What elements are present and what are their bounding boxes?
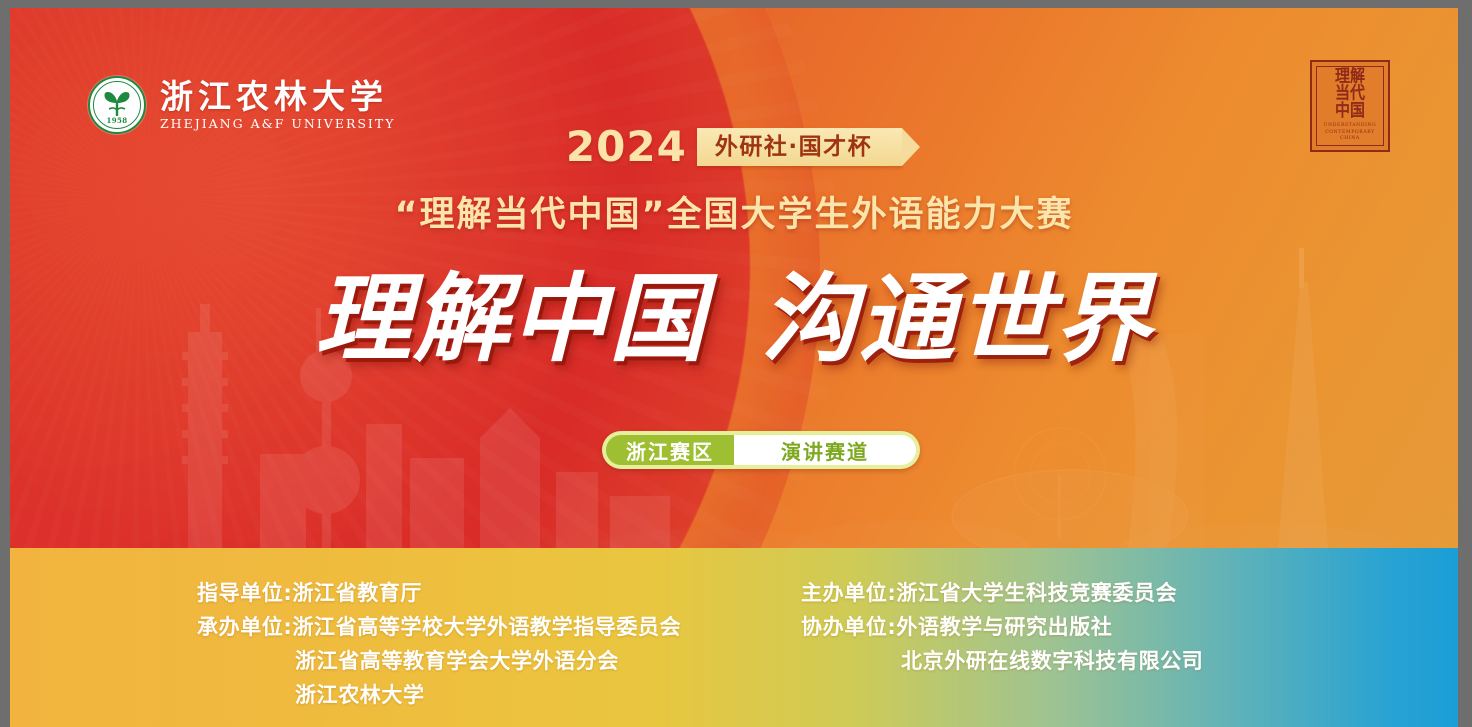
year-ribbon-row: 2024 外研社·国才杯 [10,126,1458,168]
credit-line: 指导单位:浙江省教育厅 [197,576,757,610]
poster-hero: 1958 浙江农林大学 ZHEJIANG A&F UNIVERSITY 理解当代… [10,8,1458,548]
organizers-column-right: 主办单位:浙江省大学生科技竞赛委员会 协办单位:外语教学与研究出版社 北京外研在… [801,576,1271,727]
credit-line: 浙江省高等教育学会大学外语分会 [197,644,757,678]
region-track-pill: 浙江赛区 演讲赛道 [602,431,920,469]
credit-line: 承办单位:浙江省高等学校大学外语教学指导委员会 [197,610,757,644]
slogan-part-2: 沟通世界 [761,263,1153,375]
credit-line: 主办单位:浙江省大学生科技竞赛委员会 [801,576,1271,610]
credit-indent: 浙江省高等教育学会大学外语分会 [197,644,619,678]
sponsor-ribbon-label: 外研社·国才杯 [715,136,872,159]
event-subtitle: “理解当代中国”全国大学生外语能力大赛 [10,194,1458,238]
organizers-columns: 指导单位:浙江省教育厅 承办单位:浙江省高等学校大学外语教学指导委员会 浙江省高… [10,548,1458,727]
organizers-bar: 指导单位:浙江省教育厅 承办单位:浙江省高等学校大学外语教学指导委员会 浙江省高… [10,548,1458,727]
credit-indent: 浙江农林大学 [197,678,425,712]
screenshot-frame: 1958 浙江农林大学 ZHEJIANG A&F UNIVERSITY 理解当代… [0,0,1472,727]
university-name-block: 浙江农林大学 ZHEJIANG A&F UNIVERSITY [160,80,395,131]
event-poster: 1958 浙江农林大学 ZHEJIANG A&F UNIVERSITY 理解当代… [10,8,1458,727]
ginkgo-tree-icon [100,88,134,118]
credit-line: 协办单位:外语教学与研究出版社 [801,610,1271,644]
pill-region-label: 浙江赛区 [606,435,734,465]
university-name-cn: 浙江农林大学 [160,80,395,113]
event-slogan: 理解中国沟通世界 [10,264,1458,374]
seal-year: 1958 [106,116,127,125]
credit-indent: 北京外研在线数字科技有限公司 [801,644,1203,678]
credit-line: 浙江农林大学 [197,678,757,712]
event-year: 2024 [566,126,687,168]
credit-line: 北京外研在线数字科技有限公司 [801,644,1271,678]
pill-track-label: 演讲赛道 [734,435,916,465]
sponsor-ribbon: 外研社·国才杯 [697,128,902,166]
slogan-part-1: 理解中国 [315,263,707,375]
organizers-column-left: 指导单位:浙江省教育厅 承办单位:浙江省高等学校大学外语教学指导委员会 浙江省高… [197,576,757,727]
stamp-title-cn: 理解当代中国 [1328,68,1372,120]
